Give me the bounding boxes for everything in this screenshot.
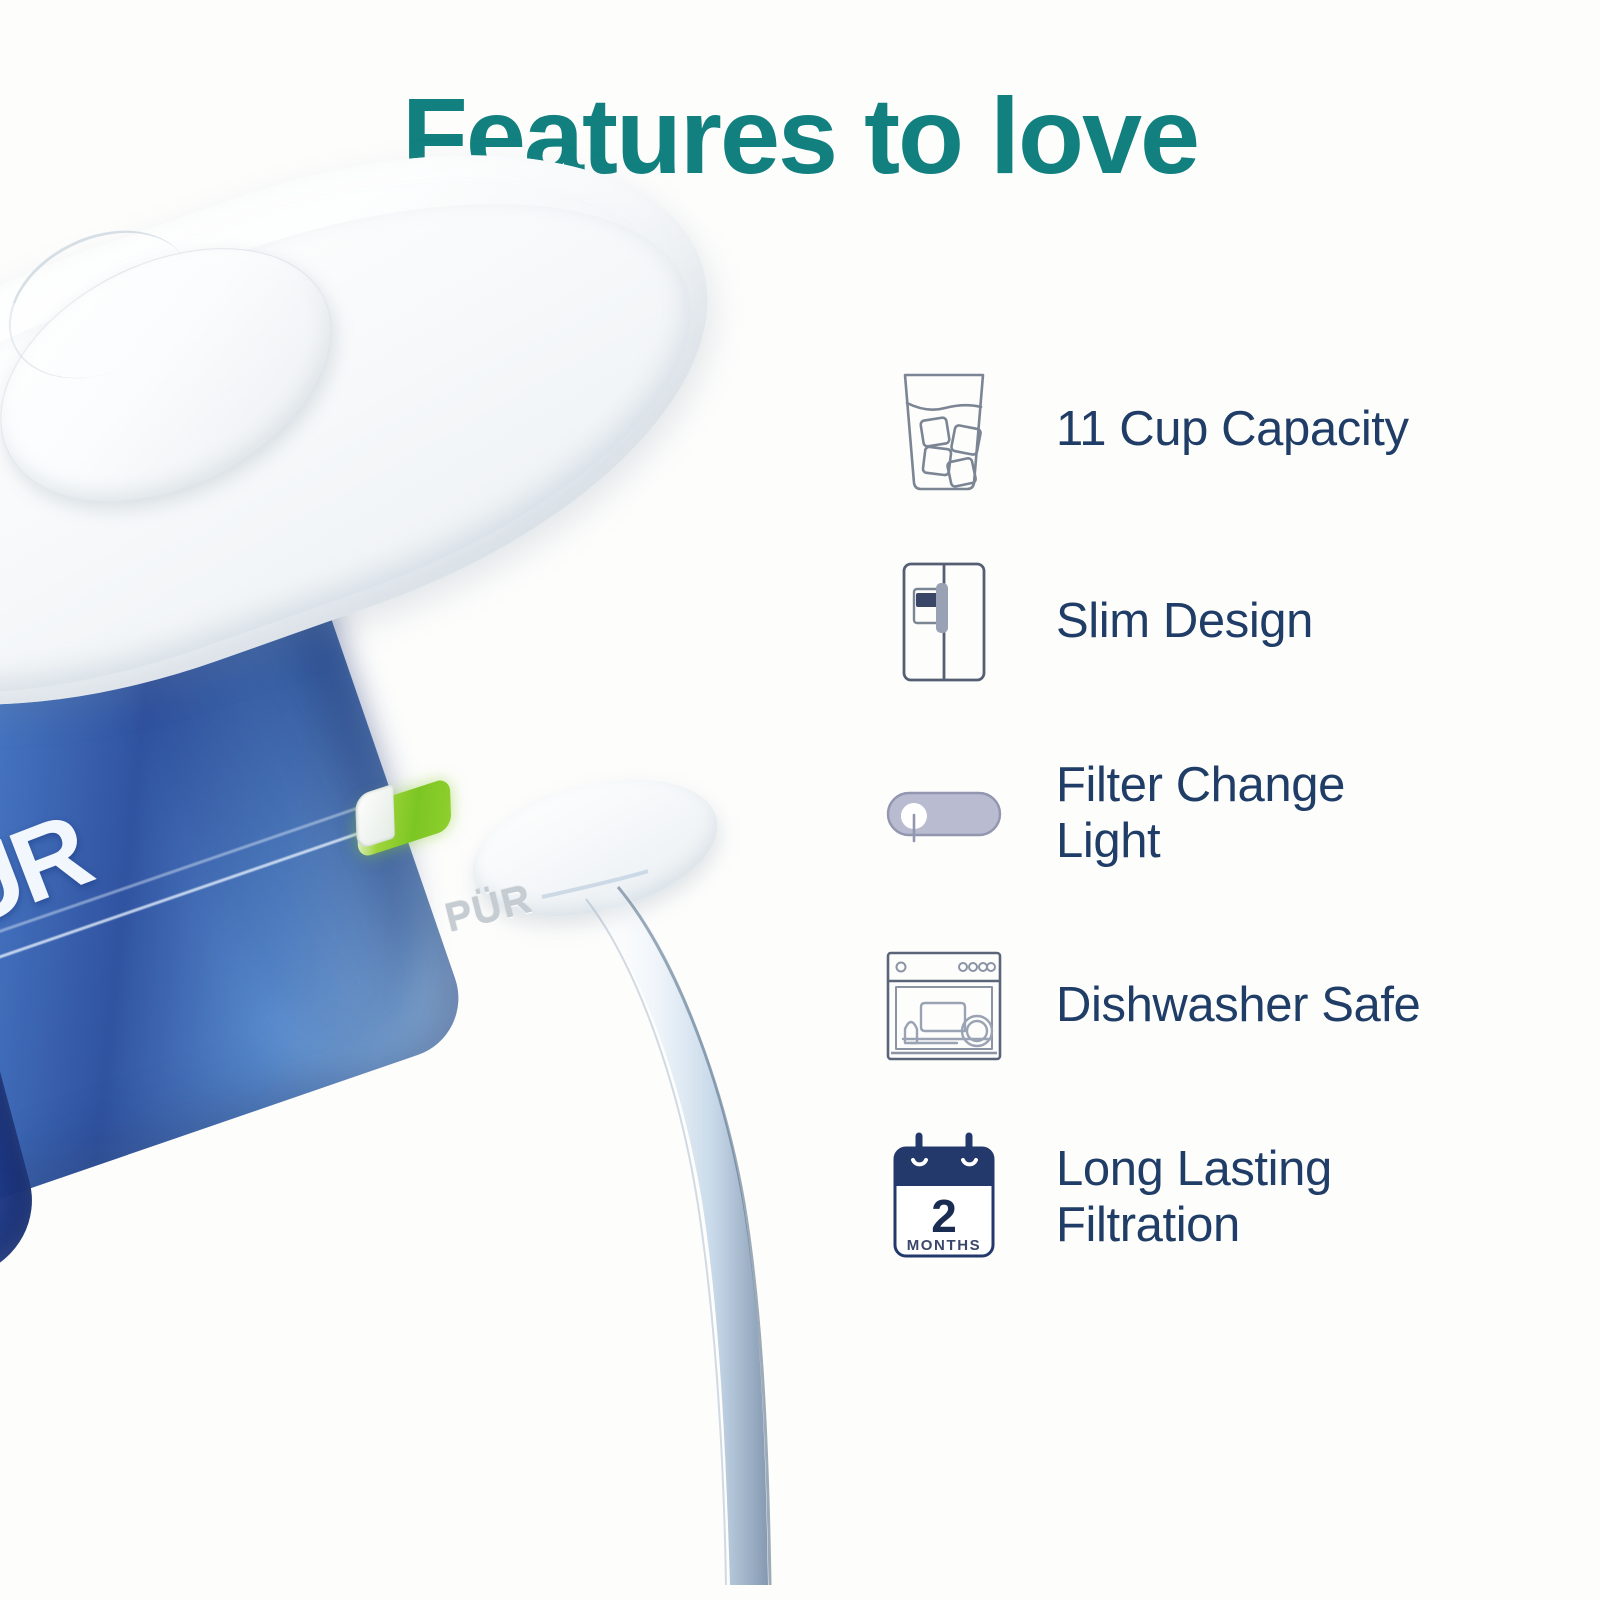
feature-item-slim-design: Slim Design bbox=[878, 547, 1578, 697]
product-photo: PÜR PÜR bbox=[0, 185, 930, 1585]
feature-label-capacity: 11 Cup Capacity bbox=[1056, 402, 1409, 458]
calendar-number: 2 bbox=[931, 1190, 957, 1242]
calendar-two-months-icon: 2 MONTHS bbox=[878, 1132, 1010, 1264]
calendar-unit: MONTHS bbox=[907, 1237, 982, 1254]
marketing-image-canvas: Features to love PÜR PÜR bbox=[0, 0, 1600, 1600]
feature-label-filter-change-light: Filter Change Light bbox=[1056, 758, 1345, 870]
pitcher-lid-brand-logo: PÜR bbox=[441, 877, 537, 942]
feature-item-capacity: 11 Cup Capacity bbox=[878, 355, 1578, 505]
refrigerator-icon bbox=[878, 556, 1010, 688]
feature-item-filter-change-light: Filter Change Light bbox=[878, 739, 1578, 889]
feature-label-dishwasher-safe: Dishwasher Safe bbox=[1056, 978, 1420, 1034]
page-title: Features to love bbox=[0, 82, 1600, 190]
glass-of-ice-water-icon bbox=[878, 364, 1010, 496]
water-stream-body bbox=[588, 885, 768, 1585]
feature-label-slim-design: Slim Design bbox=[1056, 594, 1313, 650]
features-list: 11 Cup Capacity Slim Design bbox=[878, 355, 1578, 1273]
feature-item-dishwasher-safe: Dishwasher Safe bbox=[878, 931, 1578, 1081]
dishwasher-icon bbox=[878, 940, 1010, 1072]
water-stream-edge-left bbox=[586, 899, 726, 1585]
feature-label-long-lasting-filtration: Long Lasting Filtration bbox=[1056, 1142, 1332, 1254]
feature-item-long-lasting-filtration: 2 MONTHS Long Lasting Filtration bbox=[878, 1123, 1578, 1273]
filter-change-light-icon bbox=[878, 748, 1010, 880]
water-stream-edge-right bbox=[618, 887, 770, 1585]
